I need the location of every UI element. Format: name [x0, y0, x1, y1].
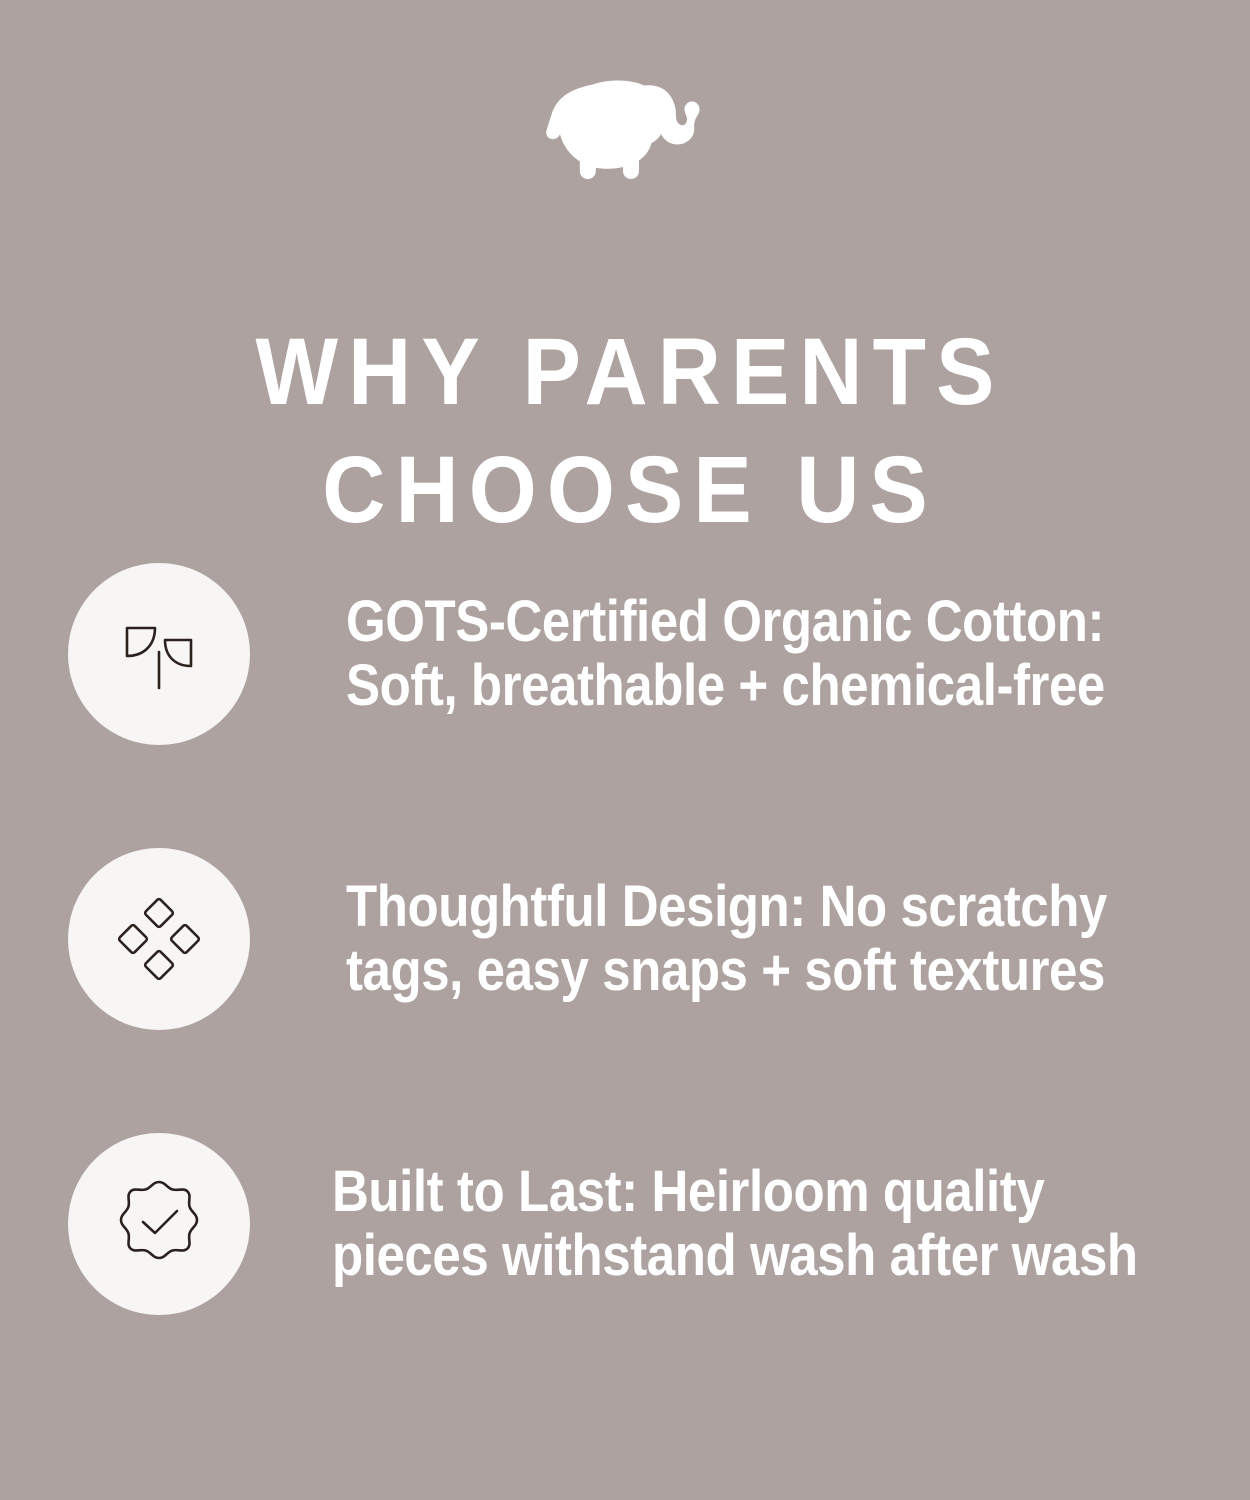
brand-logo	[0, 72, 1250, 182]
feature-item-thoughtful-design: Thoughtful Design: No scratchy tags, eas…	[0, 848, 1250, 1030]
feature-icon-badge	[68, 1133, 250, 1315]
badge-check-icon	[109, 1174, 209, 1274]
feature-text: Built to Last: Heirloom quality pieces w…	[332, 1160, 1124, 1288]
feature-item-organic-cotton: GOTS-Certified Organic Cotton: Soft, bre…	[0, 563, 1250, 745]
elephant-logo	[540, 72, 710, 182]
feature-text-line-2: Soft, breathable + chemical-free	[346, 654, 1138, 718]
sprout-leaf-icon	[111, 606, 207, 702]
feature-text-line-1: Built to Last: Heirloom quality	[332, 1160, 1124, 1224]
page-title-line-1: WHY PARENTS	[50, 313, 1200, 431]
feature-text-line-2: tags, easy snaps + soft textures	[346, 939, 1138, 1003]
feature-list: GOTS-Certified Organic Cotton: Soft, bre…	[0, 563, 1250, 1315]
four-diamonds-icon	[111, 891, 207, 987]
feature-text-line-1: GOTS-Certified Organic Cotton:	[346, 590, 1138, 654]
promo-panel: WHY PARENTS CHOOSE US GOTS-Certified Org…	[0, 0, 1250, 1500]
feature-text-line-1: Thoughtful Design: No scratchy	[346, 875, 1138, 939]
feature-text: GOTS-Certified Organic Cotton: Soft, bre…	[346, 590, 1138, 718]
page-title: WHY PARENTS CHOOSE US	[50, 313, 1200, 549]
feature-item-built-to-last: Built to Last: Heirloom quality pieces w…	[0, 1133, 1250, 1315]
feature-text: Thoughtful Design: No scratchy tags, eas…	[346, 875, 1138, 1003]
page-title-line-2: CHOOSE US	[50, 431, 1200, 549]
feature-icon-badge	[68, 848, 250, 1030]
feature-icon-badge	[68, 563, 250, 745]
feature-text-line-2: pieces withstand wash after wash	[332, 1224, 1124, 1288]
